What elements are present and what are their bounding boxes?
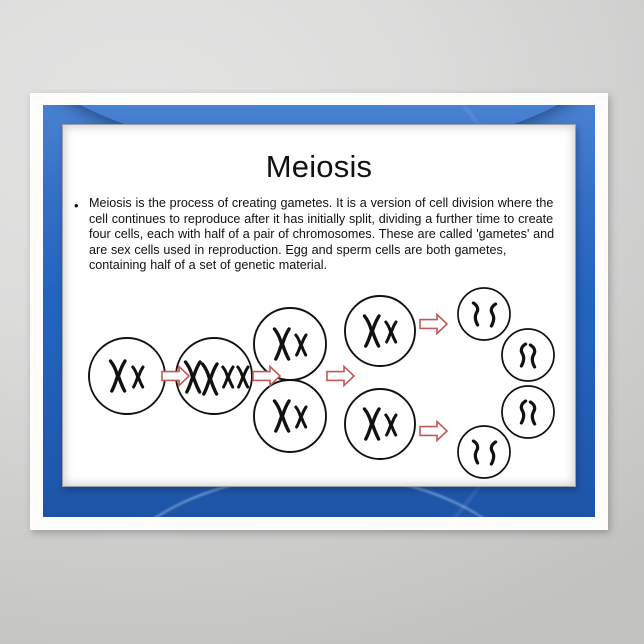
- bullet-marker: •: [74, 196, 89, 214]
- stage-parent-cell: [89, 338, 165, 414]
- slide-body-text: Meiosis is the process of creating gamet…: [89, 196, 566, 274]
- stage-second-division-top: [345, 296, 415, 366]
- arrow-gamete-formation-bottom: [420, 422, 447, 441]
- stage-gamete-1: [458, 288, 510, 340]
- slide-blue-frame: Meiosis • Meiosis is the process of crea…: [43, 105, 595, 517]
- arrow-gamete-formation-top: [420, 315, 447, 334]
- stage-second-division-bottom: [345, 389, 415, 459]
- slide-title: Meiosis: [62, 149, 576, 185]
- stage-gamete-3: [502, 386, 554, 438]
- stage-gamete-4: [458, 426, 510, 478]
- slide-bullet-list: • Meiosis is the process of creating gam…: [74, 196, 566, 274]
- poster-scene: Meiosis • Meiosis is the process of crea…: [0, 0, 644, 644]
- stage-daughter-cell-top: [254, 308, 326, 380]
- stage-gamete-2: [502, 329, 554, 381]
- arrow-second-division: [327, 367, 354, 386]
- meiosis-cell-division-diagram: [62, 276, 576, 487]
- slide-canvas: Meiosis • Meiosis is the process of crea…: [62, 124, 576, 487]
- meiosis-diagram-svg: [62, 276, 576, 487]
- stage-daughter-cell-bottom: [254, 380, 326, 452]
- poster-paper: Meiosis • Meiosis is the process of crea…: [30, 93, 608, 530]
